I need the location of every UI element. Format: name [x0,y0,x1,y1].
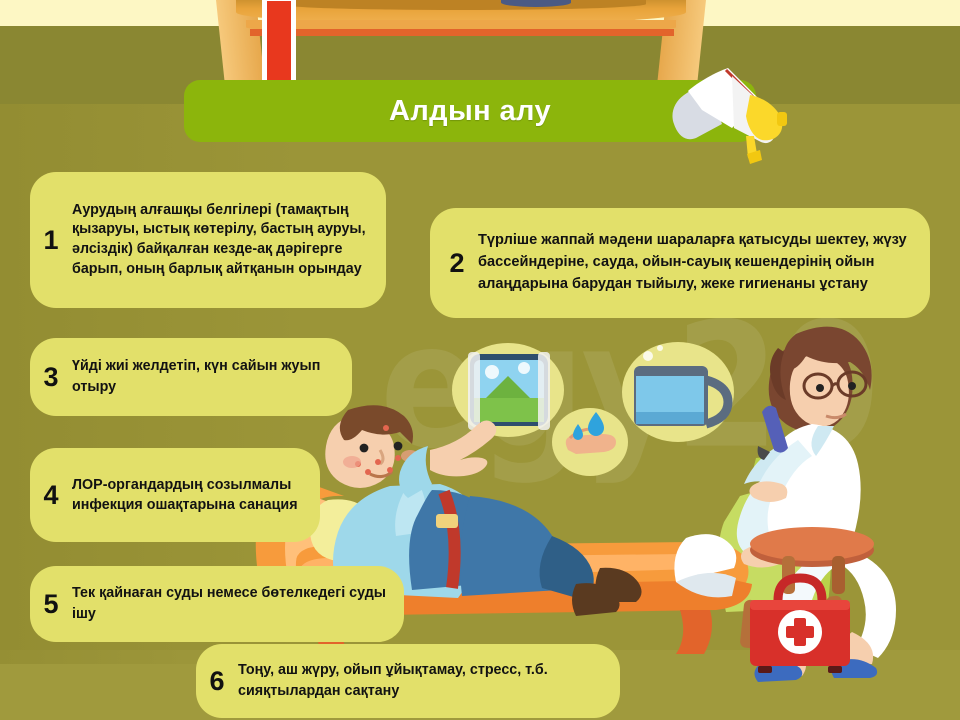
tip-text-3: Үйді жиі желдетіп, күн сайын жуып отыру [72,356,352,397]
tip-text-4: ЛОР-органдардың созылмалы инфекция ошақт… [72,475,320,516]
tip-text-5: Тек қайнаған суды немесе бөтелкедегі суд… [72,583,404,624]
tip-number-5: 5 [30,591,72,618]
tip-card-5[interactable]: 5 Тек қайнаған суды немесе бөтелкедегі с… [30,566,404,642]
tip-number-1: 1 [30,227,72,254]
page-title: Алдын алу [389,95,551,128]
hand-washing-icon [552,408,628,476]
water-kettle-icon [622,342,734,442]
tip-card-3[interactable]: 3 Үйді жиі желдетіп, күн сайын жуып отыр… [30,338,352,416]
tip-number-2: 2 [436,250,478,277]
open-window-icon [452,343,564,437]
tip-text-2: Түрліше жаппай мәдени шараларға қатысуды… [478,230,930,296]
wooden-bed-graphic [236,0,686,48]
tip-number-6: 6 [196,668,238,695]
megaphone-icon [662,62,792,170]
tip-text-6: Тоңу, аш жүру, ойып ұйықтамау, стресс, т… [238,660,620,701]
infographic-slide: egy20 Алдын алу [0,0,960,720]
tip-number-3: 3 [30,364,72,391]
tip-number-4: 4 [30,482,72,509]
exclamation-mark-icon [262,0,296,92]
bed-edge-stripe [250,29,674,36]
tip-card-6[interactable]: 6 Тоңу, аш жүру, ойып ұйықтамау, стресс,… [196,644,620,718]
tip-text-1: Аурудың алғашқы белгілері (тамақтың қыза… [72,201,386,280]
tip-card-4[interactable]: 4 ЛОР-органдардың созылмалы инфекция оша… [30,448,320,542]
tip-card-2[interactable]: 2 Түрліше жаппай мәдени шараларға қатысу… [430,208,930,318]
tip-card-1[interactable]: 1 Аурудың алғашқы белгілері (тамақтың қы… [30,172,386,308]
